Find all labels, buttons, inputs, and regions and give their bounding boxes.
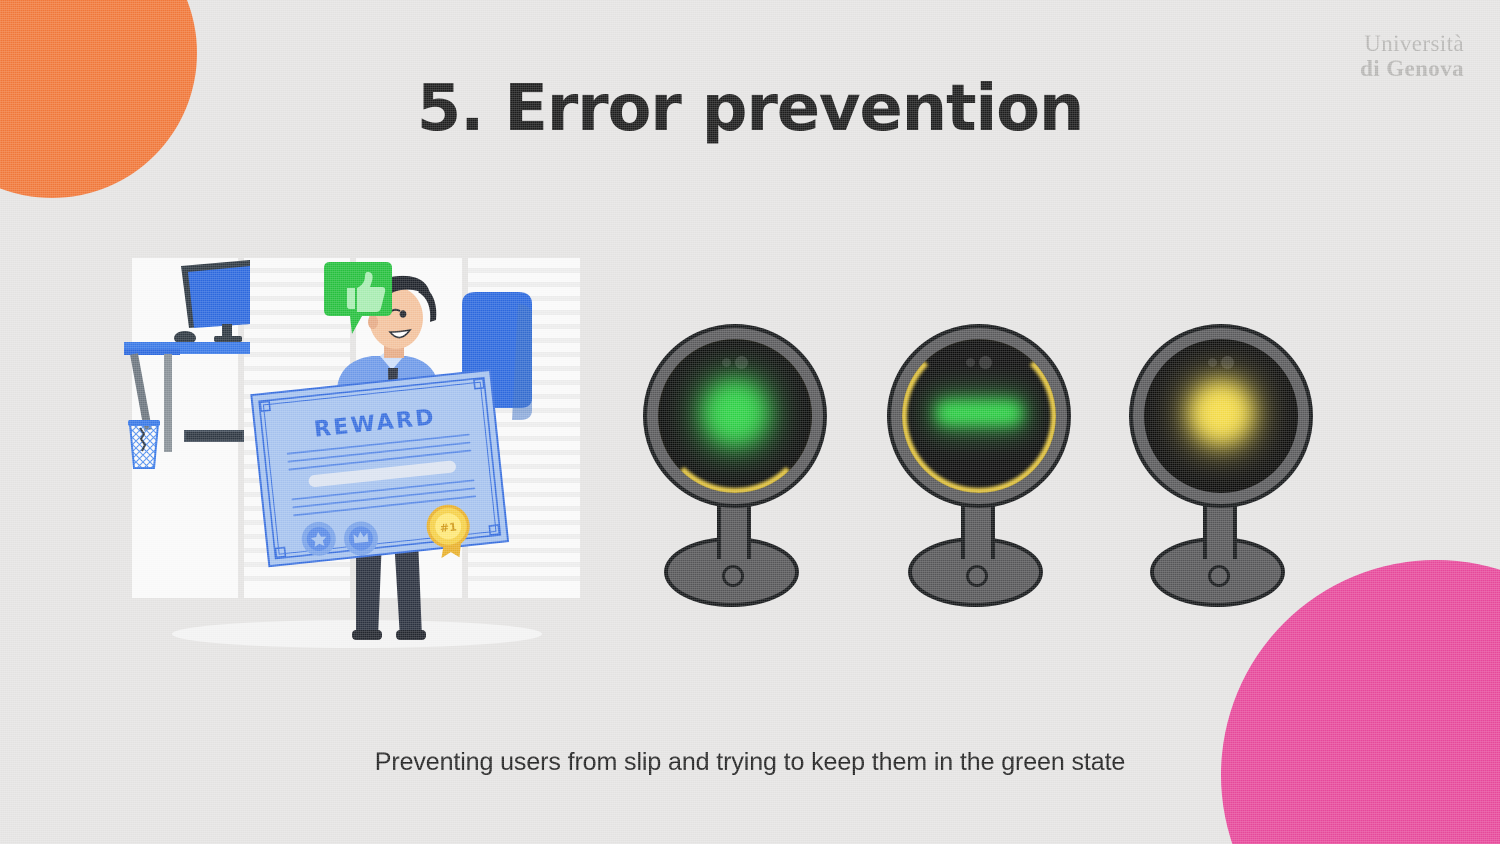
robot-screen bbox=[902, 339, 1056, 493]
robot-state-group bbox=[620, 322, 1350, 622]
robot-base-button bbox=[1208, 565, 1230, 587]
robot-base-button bbox=[966, 565, 988, 587]
medal-label: #1 bbox=[439, 520, 457, 535]
robot-indicator-yellow-dot bbox=[1189, 381, 1253, 445]
logo-line-1: Università bbox=[1360, 32, 1464, 57]
camera-eye-small-icon bbox=[1208, 358, 1217, 367]
robot-screen bbox=[658, 339, 812, 493]
office-reward-illustration: REWARD bbox=[122, 252, 592, 652]
robot-green-dash bbox=[878, 322, 1078, 622]
wastebasket bbox=[128, 420, 160, 468]
robot-yellow-dot bbox=[1120, 322, 1320, 622]
robot-eyes bbox=[1208, 356, 1234, 369]
robot-head bbox=[1129, 324, 1313, 508]
robot-smile-arc-small bbox=[658, 339, 812, 493]
page-title: 5. Error prevention bbox=[0, 72, 1500, 146]
slide-canvas: Università di Genova 5. Error prevention bbox=[0, 0, 1500, 844]
camera-eye-large-icon bbox=[1221, 356, 1234, 369]
robot-head bbox=[643, 324, 827, 508]
slide-caption: Preventing users from slip and trying to… bbox=[0, 748, 1500, 777]
robot-head bbox=[887, 324, 1071, 508]
robot-green-dot bbox=[634, 322, 834, 622]
robot-screen bbox=[1144, 339, 1298, 493]
robot-base-button bbox=[722, 565, 744, 587]
robot-smile-arc-large bbox=[902, 339, 1056, 493]
